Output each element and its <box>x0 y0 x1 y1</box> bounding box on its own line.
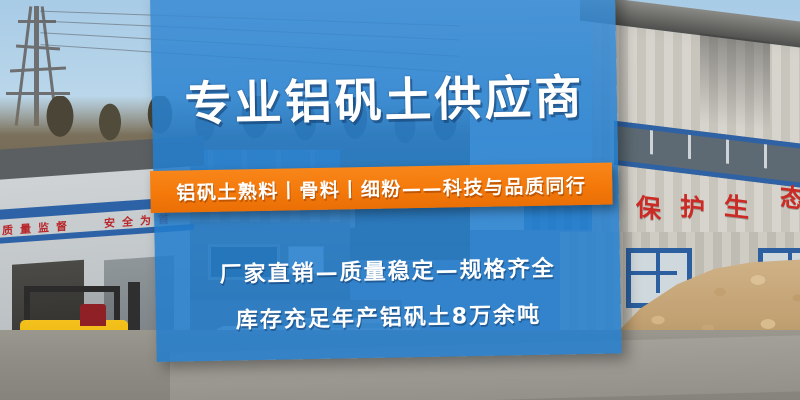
orange-ribbon: 铝矾土熟料丨骨料丨细粉——科技与品质同行 <box>150 163 613 213</box>
overlay-layer: 专业铝矾土供应商 厂家直销—质量稳定—规格齐全 库存充足年产铝矾土8万余吨 铝矾… <box>0 0 800 400</box>
promo-banner: 质 量 监 督 安 全 为 首 保 <box>0 0 800 400</box>
headline: 专业铝矾土供应商 <box>151 57 617 135</box>
ribbon-text: 铝矾土熟料丨骨料丨细粉——科技与品质同行 <box>176 171 586 206</box>
